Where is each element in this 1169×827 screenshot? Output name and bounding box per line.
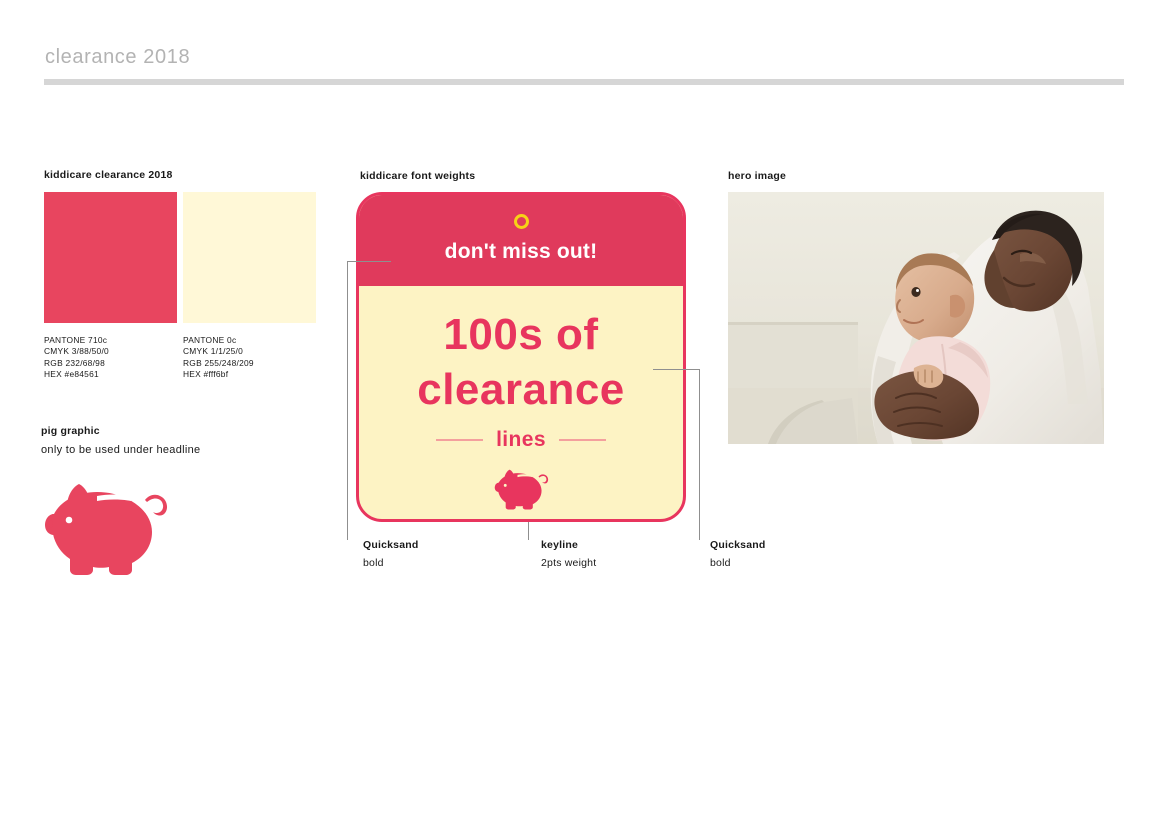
- colour-swatch-group: PANTONE 710c CMYK 3/88/50/0 RGB 232/68/9…: [44, 192, 316, 381]
- pig-section-subtitle: only to be used under headline: [41, 444, 200, 456]
- swatch-item: PANTONE 710c CMYK 3/88/50/0 RGB 232/68/9…: [44, 192, 177, 381]
- brand-pink-swatch-specs: PANTONE 710c CMYK 3/88/50/0 RGB 232/68/9…: [44, 335, 177, 381]
- font-section-label: kiddicare font weights: [360, 170, 475, 182]
- piggy-bank-icon: [493, 465, 549, 516]
- callout-title: Quicksand: [363, 539, 418, 551]
- brand-cream-swatch: [183, 192, 316, 323]
- callout-subtitle: bold: [363, 557, 418, 569]
- leader-line-kicker-horizontal: [347, 261, 391, 262]
- swatch-pantone: PANTONE 0c: [183, 335, 316, 346]
- piggy-bank-icon: [41, 474, 200, 583]
- callout-subtitle: bold: [710, 557, 765, 569]
- pig-graphic-section: pig graphic only to be used under headli…: [41, 425, 200, 583]
- header-divider: [44, 79, 1124, 85]
- hero-image: [728, 192, 1104, 444]
- lines-rule-right: [559, 439, 606, 441]
- callout-keyline: keyline 2pts weight: [541, 539, 596, 569]
- card-kicker-text: don't miss out!: [445, 240, 598, 264]
- card-body: 100s of clearance lines: [359, 286, 683, 519]
- leader-line-keyline-vertical: [528, 522, 529, 540]
- card-headline-line2: clearance: [417, 368, 625, 412]
- swatch-item: PANTONE 0c CMYK 1/1/25/0 RGB 255/248/209…: [183, 192, 316, 381]
- callout-subtitle: 2pts weight: [541, 557, 596, 569]
- callout-headline-font: Quicksand bold: [710, 539, 765, 569]
- swatch-pantone: PANTONE 710c: [44, 335, 177, 346]
- swatch-hex: HEX #fff6bf: [183, 369, 316, 380]
- swatch-rgb: RGB 255/248/209: [183, 358, 316, 369]
- clearance-card: don't miss out! 100s of clearance lines: [356, 192, 686, 522]
- swatch-cmyk: CMYK 1/1/25/0: [183, 346, 316, 357]
- callout-title: Quicksand: [710, 539, 765, 551]
- colour-section-label: kiddicare clearance 2018: [44, 169, 173, 181]
- hero-section-label: hero image: [728, 170, 786, 182]
- pig-section-title: pig graphic: [41, 425, 200, 437]
- callout-kicker-font: Quicksand bold: [363, 539, 418, 569]
- swatch-cmyk: CMYK 3/88/50/0: [44, 346, 177, 357]
- card-frame: don't miss out! 100s of clearance lines: [356, 192, 686, 522]
- swatch-hex: HEX #e84561: [44, 369, 177, 380]
- swatch-rgb: RGB 232/68/98: [44, 358, 177, 369]
- lines-rule-left: [436, 439, 483, 441]
- brand-pink-swatch: [44, 192, 177, 323]
- page-title: clearance 2018: [45, 46, 190, 69]
- leader-line-kicker-vertical: [347, 261, 348, 540]
- card-lines-row: lines: [436, 428, 606, 452]
- leader-line-headline-horizontal: [653, 369, 699, 370]
- card-header-band: don't miss out!: [359, 195, 683, 286]
- card-lines-word: lines: [496, 428, 546, 452]
- leader-line-headline-vertical: [699, 369, 700, 540]
- card-headline-line1: 100s of: [443, 313, 598, 357]
- brand-cream-swatch-specs: PANTONE 0c CMYK 1/1/25/0 RGB 255/248/209…: [183, 335, 316, 381]
- callout-title: keyline: [541, 539, 596, 551]
- hole-punch-ring-icon: [514, 214, 529, 229]
